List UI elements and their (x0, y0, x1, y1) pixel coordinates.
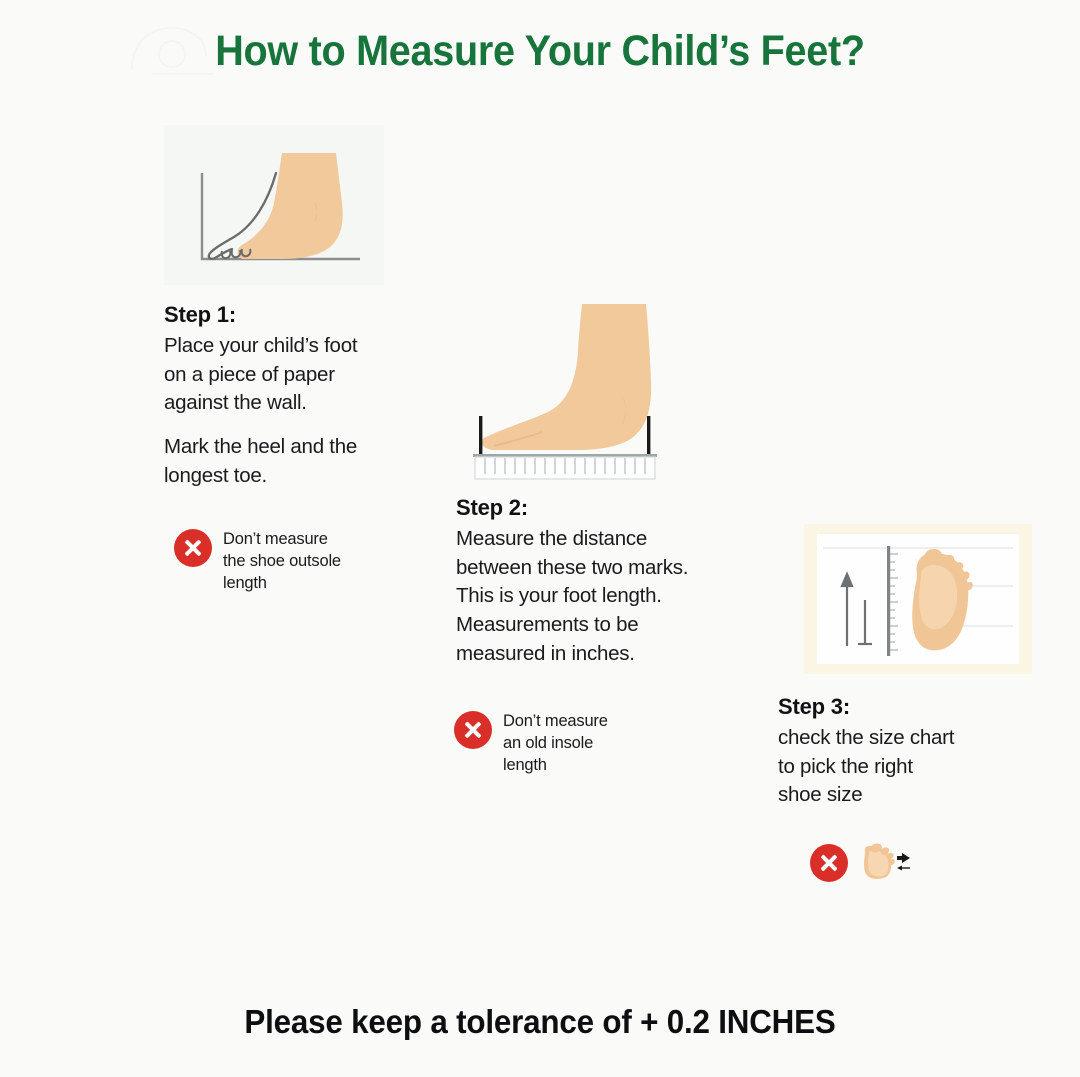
step-1-line-2: on a piece of paper (164, 361, 414, 390)
step-3-heading: Step 3: (778, 694, 1028, 720)
step-1-heading: Step 1: (164, 302, 414, 328)
step-1-line-3: against the wall. (164, 389, 414, 418)
step-2-warning-line-1: Don’t measure (503, 711, 608, 733)
step-1-body: Place your child’s foot on a piece of pa… (164, 332, 414, 490)
step-2-text: Step 2: Measure the distance between the… (456, 495, 786, 668)
step-2-heading: Step 2: (456, 495, 786, 521)
step-3-line-2: to pick the right (778, 753, 1028, 782)
step-2-body: Measure the distance between these two m… (456, 525, 786, 668)
red-x-circle-icon (810, 844, 848, 882)
step-2-warning-line-2: an old insole (503, 733, 608, 755)
step-3-line-1: check the size chart (778, 724, 1028, 753)
step-1-block: Step 1: Place your child’s foot on a pie… (164, 125, 414, 595)
step-1-warning-text: Don’t measure the shoe outsole length (223, 528, 341, 595)
step-2-line-2: between these two marks. (456, 554, 786, 583)
step-1-warning-line-1: Don’t measure (223, 529, 341, 551)
page-title: How to Measure Your Child’s Feet? (43, 27, 1037, 76)
toes-squeezed-arrows-figure (859, 841, 911, 883)
step-2-warning: Don’t measure an old insole length (454, 710, 786, 777)
step-1-line-1: Place your child’s foot (164, 332, 414, 361)
step-2-warning-text: Don’t measure an old insole length (503, 710, 608, 777)
step-2-line-1: Measure the distance (456, 525, 786, 554)
step-3-warning (810, 841, 1028, 883)
step-1-warning-line-2: the shoe outsole (223, 551, 341, 573)
step-3-block: Step 3: check the size chart to pick the… (778, 524, 1028, 883)
tolerance-note: Please keep a tolerance of + 0.2 INCHES (27, 1003, 1053, 1041)
step-1-warning-line-3: length (223, 573, 341, 595)
step-1-illustration (164, 125, 384, 285)
step-3-body: check the size chart to pick the right s… (778, 724, 1028, 810)
step-2-line-3: This is your foot length. (456, 582, 786, 611)
step-1-line-4: Mark the heel and the (164, 433, 414, 462)
step-2-line-4: Measurements to be (456, 611, 786, 640)
step-2-warning-line-3: length (503, 755, 608, 777)
step-1-text: Step 1: Place your child’s foot on a pie… (164, 302, 414, 490)
step-2-line-5: measured in inches. (456, 640, 786, 669)
step-1-warning: Don’t measure the shoe outsole length (174, 528, 414, 595)
red-x-circle-icon (454, 711, 492, 749)
step-3-illustration (804, 524, 1032, 674)
red-x-circle-icon (174, 529, 212, 567)
step-2-block: Step 2: Measure the distance between the… (456, 300, 786, 777)
step-2-illustration (464, 300, 684, 482)
step-3-text: Step 3: check the size chart to pick the… (778, 694, 1028, 810)
step-3-line-3: shoe size (778, 781, 1028, 810)
step-1-line-5: longest toe. (164, 462, 414, 491)
